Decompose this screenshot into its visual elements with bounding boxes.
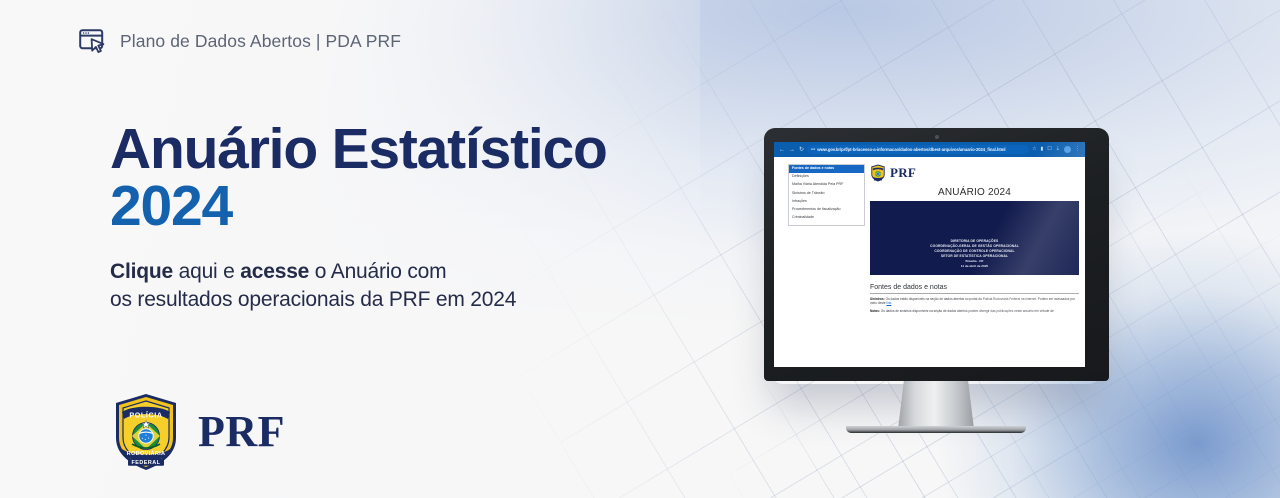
page-section-title: Fontes de dados e notas	[870, 284, 1079, 294]
svg-text:RODOVIÁRIA: RODOVIÁRIA	[127, 450, 166, 457]
svg-text:POLÍCIA: POLÍCIA	[129, 410, 162, 419]
split-screen-icon[interactable]: ☐	[1047, 147, 1051, 152]
paragraph-text-sinistros: Os dados estão disponíveis na seção de d…	[870, 297, 1075, 306]
page-cover-block: DIRETORIA DE OPERAÇÕES COORDENAÇÃO-GERAL…	[870, 201, 1079, 275]
arrow-left-icon[interactable]: ←	[779, 147, 785, 153]
subtitle-bold-clique: Clique	[110, 260, 173, 283]
browser-toolbar: ← → ↻ ⚯ www.gov.br/prf/pt-br/acesso-a-in…	[774, 142, 1085, 157]
browser-cursor-icon	[78, 26, 108, 56]
monitor-mockup: ← → ↻ ⚯ www.gov.br/prf/pt-br/acesso-a-in…	[757, 128, 1115, 390]
address-bar-url: www.gov.br/prf/pt-br/acesso-a-informacao…	[817, 147, 1005, 152]
subtitle-bold-acesse: acesse	[240, 260, 309, 283]
page-sidebar: Fontes de dados e notas Definições Malha…	[788, 164, 865, 226]
page-doc-title: ANUÁRIO 2024	[870, 187, 1079, 198]
browser-nav-controls: ← → ↻	[777, 147, 804, 153]
cover-date: 11 de abril de 2025	[961, 265, 988, 269]
page-paragraph-notas: Notas: Os dados de sinistros disponíveis…	[870, 309, 1079, 314]
bookmark-star-icon[interactable]: ☆	[1032, 147, 1036, 152]
browser-action-icons: ☆ ▮ ☐ ⇣ ⋮	[1032, 146, 1082, 153]
page-prf-wordmark: PRF	[890, 165, 916, 181]
prf-badge-icon: POLÍCIA RODOVIÁ	[110, 392, 182, 472]
arrow-right-icon[interactable]: →	[789, 147, 795, 153]
sidebar-item-criminalidade[interactable]: Criminalidade	[789, 214, 864, 222]
page-prf-lockup: PRF	[870, 164, 1079, 182]
page-main-column: PRF ANUÁRIO 2024 DIRETORIA DE OPERAÇÕES …	[870, 164, 1079, 313]
monitor-stand-foot	[846, 426, 1026, 433]
paragraph-label-notas: Notas:	[870, 309, 880, 313]
sidebar-item-procedimentos[interactable]: Procedimentos de fiscalização	[789, 206, 864, 214]
browser-page-content: Fontes de dados e notas Definições Malha…	[774, 157, 1085, 367]
subtitle-line-1: Clique aqui e acesse o Anuário com	[110, 258, 516, 286]
page-title-line1: Anuário Estatístico	[110, 122, 607, 177]
subtitle[interactable]: Clique aqui e acesse o Anuário com os re…	[110, 258, 516, 313]
subtitle-text-1: aqui e	[173, 260, 240, 283]
header: Plano de Dados Abertos | PDA PRF	[78, 26, 401, 56]
page-paragraph-sinistros: Sinistros: Os dados estão disponíveis na…	[870, 297, 1079, 306]
reload-icon[interactable]: ↻	[799, 147, 804, 153]
page-title: Anuário Estatístico 2024	[110, 122, 607, 233]
monitor-screen: ← → ↻ ⚯ www.gov.br/prf/pt-br/acesso-a-in…	[774, 142, 1085, 367]
extensions-icon[interactable]: ▮	[1041, 147, 1044, 152]
webcam-icon	[935, 135, 939, 139]
download-icon[interactable]: ⇣	[1056, 147, 1060, 152]
pda-prf-banner: Plano de Dados Abertos | PDA PRF Anuário…	[0, 0, 1280, 498]
sidebar-item-sinistros[interactable]: Sinistros de Trânsito	[789, 189, 864, 197]
paragraph-label-sinistros: Sinistros:	[870, 297, 885, 301]
header-title: Plano de Dados Abertos | PDA PRF	[120, 31, 401, 52]
paragraph-text-notas: Os dados de sinistros disponíveis na seç…	[880, 309, 1054, 313]
svg-text:FEDERAL: FEDERAL	[132, 460, 161, 466]
kebab-menu-icon[interactable]: ⋮	[1075, 147, 1080, 152]
cover-city: Brasília - DF	[965, 260, 983, 264]
sidebar-item-definicoes[interactable]: Definições	[789, 173, 864, 181]
cover-line-4: SETOR DE ESTATÍSTICA OPERACIONAL	[941, 255, 1008, 258]
prf-badge-icon-small	[870, 164, 886, 182]
sidebar-item-infracoes[interactable]: Infrações	[789, 198, 864, 206]
monitor-stand-neck	[898, 379, 974, 429]
sidebar-item-fontes[interactable]: Fontes de dados e notas	[789, 165, 864, 173]
profile-avatar-icon[interactable]	[1064, 146, 1071, 153]
prf-wordmark: PRF	[198, 410, 285, 454]
site-info-icon[interactable]: ⚯	[811, 147, 815, 153]
paragraph-link[interactable]: link	[886, 301, 891, 305]
subtitle-text-2: o Anuário com	[309, 260, 446, 283]
page-title-line2: 2024	[110, 179, 607, 234]
subtitle-line-2: os resultados operacionais da PRF em 202…	[110, 286, 516, 314]
background-white-wash	[0, 0, 700, 498]
address-bar[interactable]: ⚯ www.gov.br/prf/pt-br/acesso-a-informac…	[807, 145, 1029, 154]
sidebar-item-malha-viaria[interactable]: Malha Viária Atendida Pela PRF	[789, 181, 864, 189]
prf-logo-lockup: POLÍCIA RODOVIÁ	[110, 392, 285, 472]
